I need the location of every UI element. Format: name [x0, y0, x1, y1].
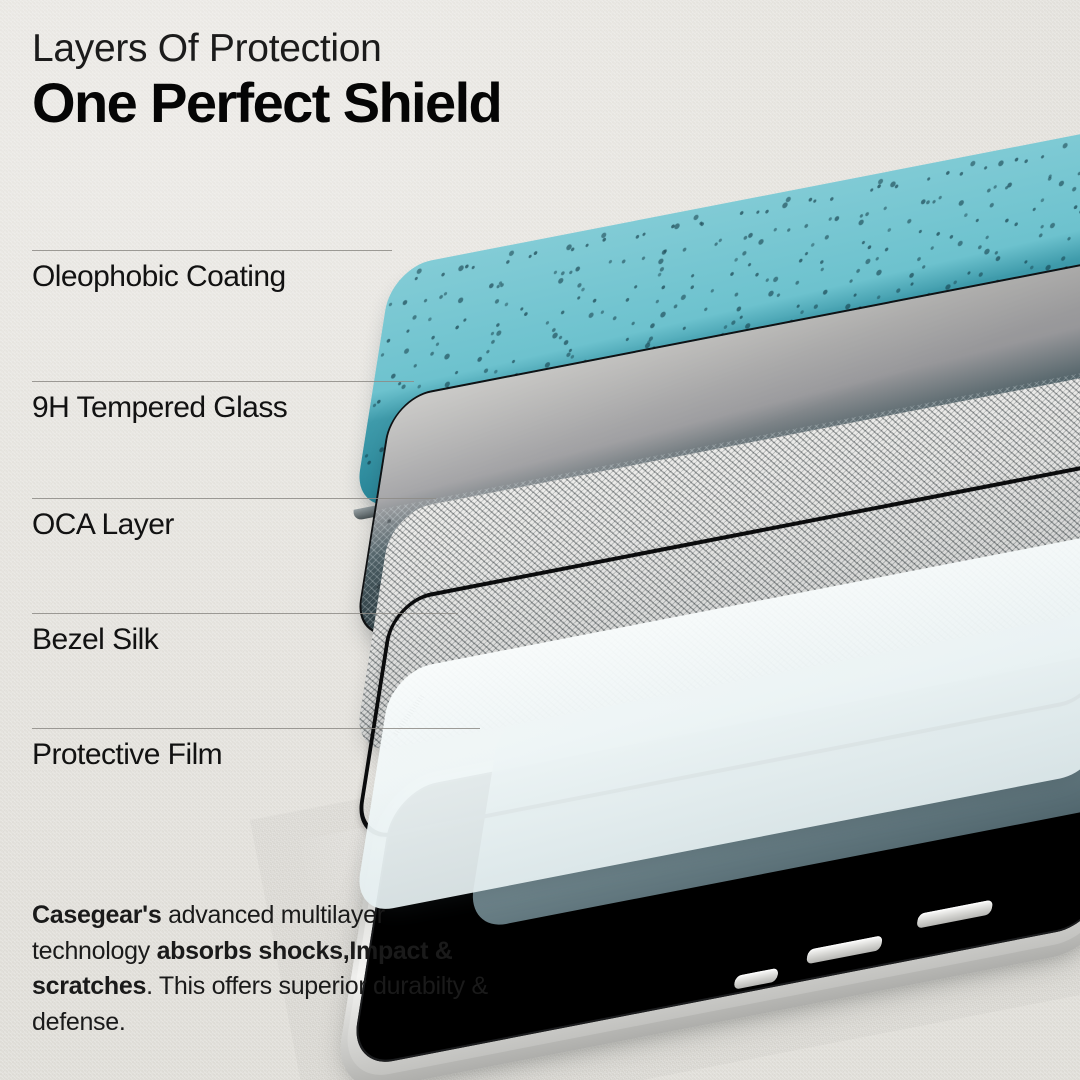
brand-name: Casegear's: [32, 901, 161, 929]
leader-line: [32, 498, 436, 499]
poster-canvas: Layers Of Protection One Perfect Shield: [0, 0, 1080, 1080]
page-title: One Perfect Shield: [32, 72, 501, 135]
layer-label-text: 9H Tempered Glass: [32, 391, 287, 425]
leader-line: [32, 381, 414, 382]
layer-label-text: Bezel Silk: [32, 623, 158, 657]
layer-label-text: OCA Layer: [32, 508, 174, 542]
leader-line: [32, 613, 458, 614]
description-paragraph: Casegear's advanced multilayer technolog…: [32, 898, 502, 1040]
leader-line: [32, 250, 392, 251]
layer-label-text: Oleophobic Coating: [32, 260, 286, 294]
leader-line: [32, 728, 480, 729]
eyebrow-text: Layers Of Protection: [32, 28, 501, 70]
header-block: Layers Of Protection One Perfect Shield: [32, 28, 501, 135]
layer-label-text: Protective Film: [32, 738, 222, 772]
